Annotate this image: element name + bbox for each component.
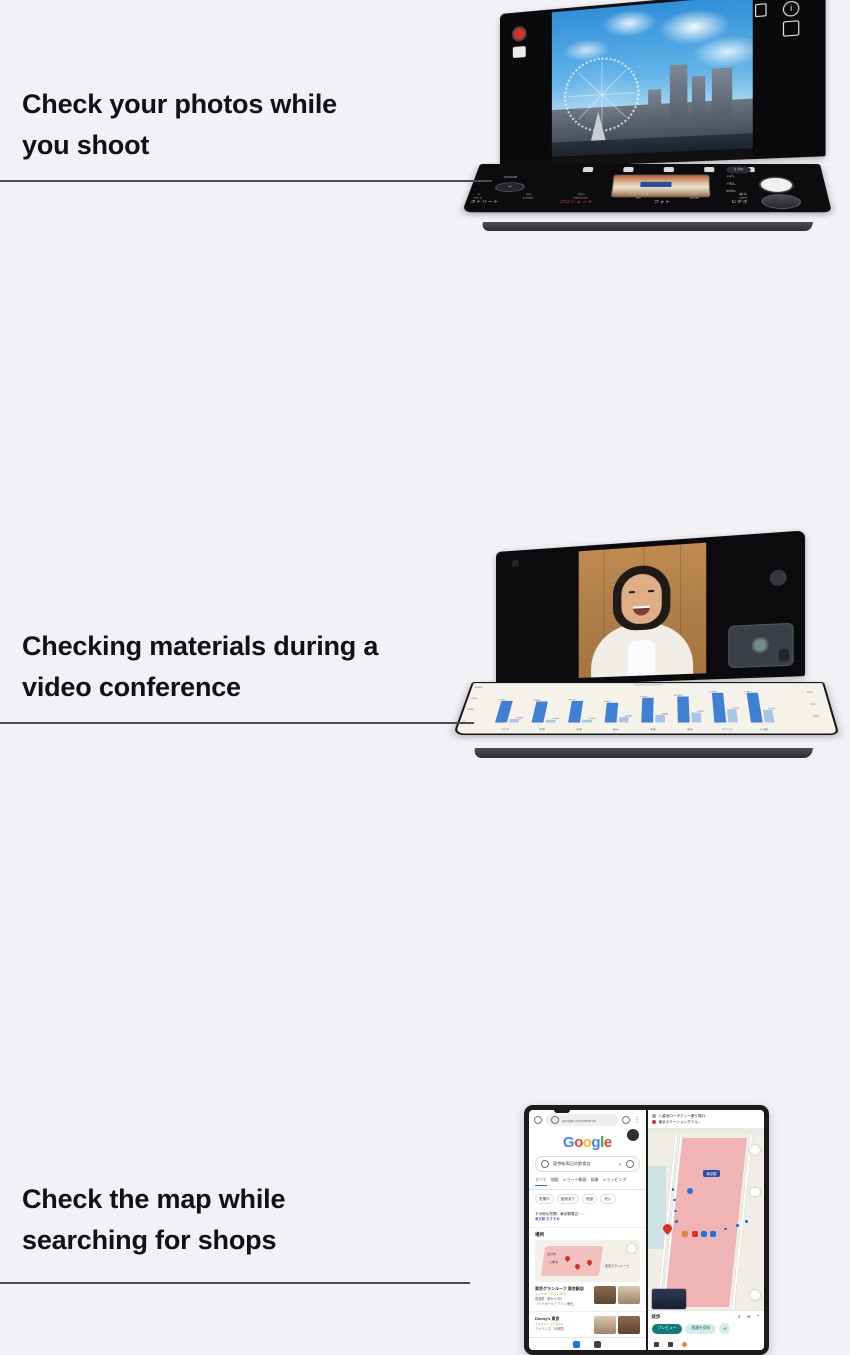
shutter-button[interactable] — [760, 178, 793, 192]
section-divider — [0, 1282, 470, 1284]
photo-building — [670, 64, 688, 120]
focus-lock-labels: AFL AEL WBL — [725, 173, 737, 195]
filter-seating[interactable]: 座席あり — [557, 1194, 579, 1204]
listing-name: 東京グランルーフ 東京駅店 — [535, 1286, 590, 1292]
photo-building — [692, 76, 705, 119]
list-item[interactable]: 東京グランルーフ 東京駅店 ★★★★☆ 4.2 (1,280) 居酒屋 · 駅か… — [529, 1282, 646, 1312]
places-section-title: 場所 — [529, 1228, 646, 1240]
timer-icon[interactable] — [664, 167, 674, 172]
afl-label: AFL — [725, 173, 736, 180]
screen-notch — [554, 1110, 570, 1113]
poi-icon[interactable] — [682, 1231, 688, 1237]
search-result-item[interactable]: その他の質問：東京駅周辺・… 東京駅 おすすめ — [529, 1208, 646, 1228]
listing-thumbnail[interactable] — [618, 1286, 640, 1304]
app-icon[interactable] — [682, 1342, 687, 1347]
search-tabs: すべて 地図 ショート動画 画像 ショッピング — [529, 1172, 646, 1190]
save-route-button[interactable]: 経路を保存 — [685, 1324, 716, 1334]
minimap-label: 八重洲 — [549, 1260, 558, 1264]
camera-device-hinge — [481, 222, 813, 231]
marketing-page: Check your photos while you shoot — [0, 0, 850, 814]
listing-thumbnails — [594, 1316, 640, 1334]
map-action-icons: ⌕ ⋖ ⌃ — [738, 1314, 760, 1320]
map-button-row: プレビュー 経路を保存 ⋖ — [652, 1323, 761, 1334]
map-water — [648, 1166, 667, 1249]
tab-shopping[interactable]: ショッピング — [603, 1177, 627, 1186]
inline-minimap[interactable]: 丸の内 八重洲 東京グランルーフ — [535, 1240, 640, 1282]
camera-top-screen: i — [500, 0, 826, 169]
flash-icon[interactable] — [582, 167, 593, 172]
street-view-thumbnail[interactable] — [652, 1289, 686, 1309]
map-canvas[interactable]: 東京駅 — [648, 1134, 765, 1314]
preview-button[interactable]: プレビュー — [652, 1324, 683, 1334]
left-navigation-bar — [529, 1337, 646, 1350]
foldable-camera-device: i 1.0x AFL AEL WBL — [452, 14, 837, 239]
right-navigation-bar — [648, 1338, 765, 1350]
control-dial[interactable] — [762, 195, 800, 208]
travel-mode-row: 徒歩 ⌕ ⋖ ⌃ — [652, 1314, 761, 1320]
destination-pin-icon — [652, 1120, 656, 1124]
reload-icon[interactable] — [622, 1116, 630, 1124]
list-item[interactable]: Denny's 東京 ★★★★☆ 3.8 (640) ファミレス · 24時間 — [529, 1312, 646, 1339]
browser-icon[interactable] — [573, 1341, 580, 1348]
google-search-pane: google.com/search ⋮ Google 東京駅周辺の飲食店 × す — [529, 1110, 646, 1350]
photo-building — [712, 67, 732, 118]
filter-private-room[interactable]: 個室 — [582, 1194, 597, 1204]
mode-dial-label: MODE — [503, 175, 518, 178]
minimap-label: 東京グランルーフ — [605, 1264, 629, 1268]
travel-mode-label: 徒歩 — [652, 1314, 661, 1320]
compass-icon[interactable] — [750, 1290, 760, 1300]
filter-icon[interactable] — [704, 167, 714, 172]
tab-shorts[interactable]: ショート動画 — [563, 1177, 587, 1186]
directions-destination[interactable]: 東京ステーションホテル… — [652, 1119, 761, 1125]
share-icon[interactable]: ⋖ — [747, 1314, 751, 1320]
camera-mode-photo[interactable]: フォト — [653, 199, 670, 204]
home-icon[interactable] — [534, 1116, 542, 1124]
section-maps: Check the map while searching for shops … — [0, 547, 850, 814]
tab-maps[interactable]: 地図 — [551, 1177, 559, 1186]
listing-thumbnail[interactable] — [594, 1316, 616, 1334]
gallery-icon[interactable] — [513, 46, 526, 58]
listing-note: 「ハイボールとプリン海先」 — [535, 1302, 590, 1307]
phone-icon[interactable] — [594, 1341, 601, 1348]
more-vert-icon[interactable]: ⋮ — [634, 1118, 641, 1123]
listing-thumbnails — [594, 1286, 640, 1307]
start-dot-icon — [652, 1114, 656, 1118]
search-icon[interactable]: ⌕ — [738, 1314, 740, 1320]
camera-mode-video[interactable]: ビデオ — [731, 199, 748, 204]
mic-icon[interactable] — [626, 1160, 634, 1168]
listing-thumbnail[interactable] — [594, 1286, 616, 1304]
filter-cheap[interactable]: 安い — [600, 1194, 615, 1204]
filter-open-now[interactable]: 営業中 — [535, 1194, 554, 1204]
crop-icon[interactable] — [755, 3, 767, 17]
poi-icon[interactable] — [692, 1231, 698, 1237]
minimap-label: 丸の内 — [547, 1252, 556, 1256]
result-link[interactable]: 東京駅 おすすめ — [535, 1217, 640, 1222]
section-photos: Check your photos while you shoot — [0, 0, 850, 270]
search-input[interactable]: 東京駅周辺の飲食店 × — [535, 1156, 640, 1172]
directions-bar: 八重洲ロータクシー乗り場口… 東京ステーションホテル… — [648, 1110, 765, 1128]
more-icon[interactable]: ⌃ — [756, 1314, 760, 1320]
tab-all[interactable]: すべて — [535, 1177, 547, 1186]
lock-icon — [551, 1116, 559, 1124]
account-avatar[interactable] — [627, 1129, 639, 1141]
clear-icon[interactable]: × — [619, 1162, 621, 1167]
compass-icon[interactable] — [627, 1244, 636, 1253]
section-video-conference: Checking materials during a video confer… — [0, 270, 850, 547]
caption-maps: Check the map while searching for shops — [22, 1179, 285, 1261]
caption-photos: Check your photos while you shoot — [22, 84, 337, 166]
map-menu-icon[interactable] — [750, 1188, 760, 1196]
search-filters: 営業中 座席あり 個室 安い — [529, 1190, 646, 1208]
grid-icon[interactable] — [623, 167, 634, 172]
camera-bottom-screen: 1.0x AFL AEL WBL MODE P F F2.0 SS — [462, 164, 832, 212]
poi-icon[interactable] — [701, 1231, 707, 1237]
foldable-maps-device: google.com/search ⋮ Google 東京駅周辺の飲食店 × す — [524, 1105, 769, 1355]
map-bottom-sheet: 徒歩 ⌕ ⋖ ⌃ プレビュー 経路を保存 ⋖ — [648, 1310, 765, 1338]
camera-bezel-left — [500, 9, 552, 169]
layers-icon[interactable] — [750, 1145, 760, 1155]
home-icon[interactable] — [668, 1342, 673, 1347]
station-badge[interactable]: 東京駅 — [703, 1170, 719, 1177]
listing-subtitle: ファミレス · 24時間 — [535, 1327, 590, 1332]
camera-viewfinder — [552, 0, 753, 157]
ael-label: AEL — [725, 180, 736, 187]
camera-mode-street[interactable]: ストリート — [469, 199, 499, 204]
url-field[interactable]: google.com/search — [546, 1114, 618, 1126]
mode-dial[interactable]: P — [495, 183, 525, 191]
search-icon — [541, 1160, 549, 1168]
search-query-text: 東京駅周辺の飲食店 — [553, 1161, 615, 1167]
tab-images[interactable]: 画像 — [591, 1177, 599, 1186]
section-divider — [0, 180, 492, 182]
photo-building — [648, 89, 661, 121]
google-maps-pane: 八重洲ロータクシー乗り場口… 東京ステーションホテル… — [648, 1110, 765, 1350]
lock-icon[interactable] — [783, 20, 799, 37]
listing-thumbnail[interactable] — [618, 1316, 640, 1334]
camera-mode-row: ストリート プロショット フォト ビデオ — [469, 199, 748, 204]
share-button[interactable]: ⋖ — [719, 1323, 730, 1334]
camera-mode-pro-shot[interactable]: プロショット — [558, 199, 593, 204]
destination-text: 東京ステーションホテル… — [659, 1119, 702, 1125]
poi-icon[interactable] — [710, 1231, 716, 1237]
browser-url-bar: google.com/search ⋮ — [529, 1110, 646, 1129]
url-text: google.com/search — [562, 1118, 596, 1123]
recents-icon[interactable] — [654, 1342, 659, 1347]
